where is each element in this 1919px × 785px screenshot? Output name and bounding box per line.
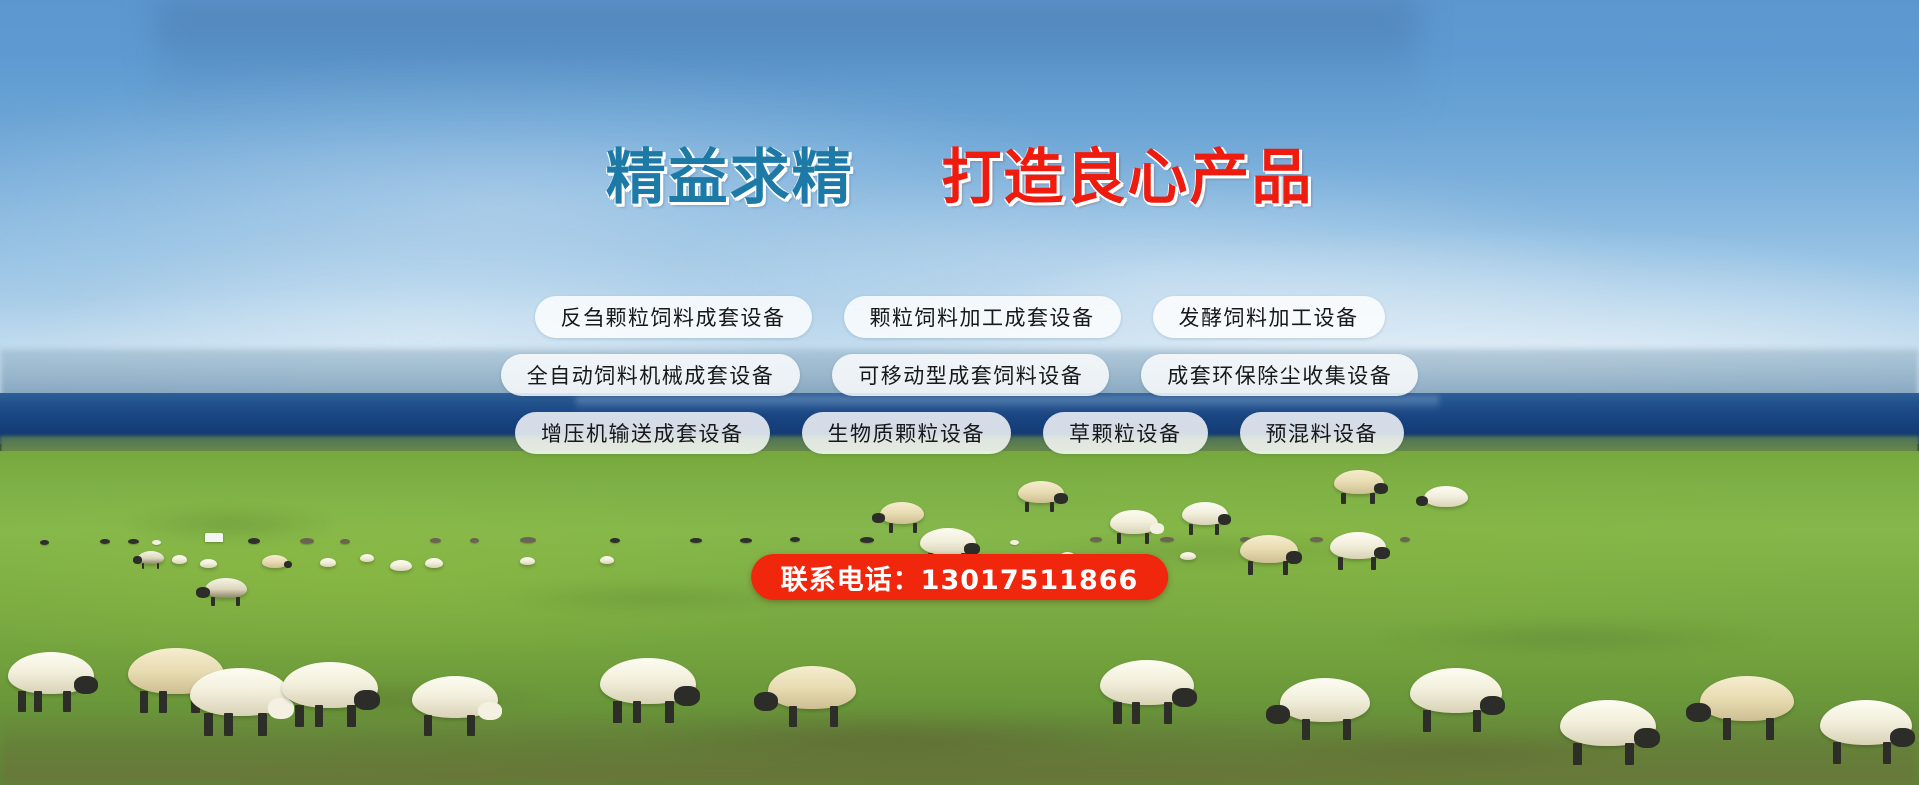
far-animal (248, 538, 260, 544)
sheep (8, 652, 94, 694)
sheep-leg (1625, 743, 1634, 765)
sheep-head (1286, 551, 1302, 564)
sheep-leg (211, 597, 215, 607)
sheep (1100, 660, 1194, 705)
sheep-head (1172, 688, 1197, 707)
far-animal (610, 538, 620, 543)
far-animal (1090, 537, 1102, 542)
sheep (1330, 532, 1386, 559)
far-animal (1010, 540, 1019, 545)
pill-ruminant-pellet-feed-complete-equipment[interactable]: 反刍颗粒饲料成套设备 (535, 296, 812, 338)
sheep-leg (1341, 493, 1346, 505)
sheep-leg (889, 523, 893, 534)
sheep (390, 560, 412, 571)
sheep (1700, 676, 1794, 721)
pill-row-2: 全自动饲料机械成套设备 可移动型成套饲料设备 成套环保除尘收集设备 (0, 354, 1919, 396)
far-animal (1400, 537, 1410, 542)
sheep-leg (1833, 742, 1841, 764)
sheep-head (1890, 728, 1915, 747)
sheep (282, 662, 378, 708)
pill-grass-pellet-equipment[interactable]: 草颗粒设备 (1043, 412, 1208, 454)
sheep (320, 558, 336, 567)
headline-blue-text: 精益求精 (606, 148, 854, 208)
headline-red-text: 打造良心产品 (941, 148, 1313, 208)
sheep-leg (1473, 710, 1481, 732)
far-animal (152, 540, 161, 545)
far-animal (1160, 537, 1174, 542)
sheep-leg (157, 563, 159, 569)
sheep (1820, 700, 1912, 745)
sheep (1180, 552, 1196, 560)
far-animal (1310, 537, 1323, 542)
sheep-leg (633, 701, 642, 723)
sheep-leg (315, 705, 324, 727)
sheep (425, 558, 443, 568)
far-animal (340, 539, 350, 544)
hero-headline: 精益求精 打造良心产品 (0, 148, 1919, 208)
sheep-head (1374, 483, 1388, 494)
sheep-leg (1050, 502, 1054, 513)
sheep (600, 658, 696, 704)
sheep-leg (1573, 743, 1582, 765)
sheep (1560, 700, 1656, 746)
sheep-leg (140, 691, 149, 713)
far-animal (690, 538, 702, 543)
sheep-leg (613, 701, 622, 723)
sheep-leg (1338, 557, 1343, 570)
sheep (412, 676, 498, 718)
sheep-leg (1343, 719, 1351, 740)
sheep-leg (347, 705, 356, 727)
sheep-head (354, 690, 380, 710)
sheep-leg (1132, 702, 1140, 724)
sheep-head (1480, 696, 1505, 715)
sheep-head (754, 692, 778, 711)
sheep-head (1634, 728, 1660, 748)
sheep-leg (913, 523, 917, 534)
sheep (1334, 470, 1384, 494)
far-animal (100, 539, 110, 544)
sheep (205, 578, 247, 598)
sheep-leg (34, 691, 42, 711)
pill-row-1: 反刍颗粒饲料成套设备 颗粒饲料加工成套设备 发酵饲料加工设备 (0, 296, 1919, 338)
sheep-leg (1117, 533, 1121, 545)
sheep-head (1054, 493, 1068, 504)
sheep (138, 551, 164, 564)
sheep (360, 554, 374, 562)
pill-fully-automatic-feed-machinery-complete-equipment[interactable]: 全自动饲料机械成套设备 (501, 354, 801, 396)
pill-mobile-complete-feed-equipment[interactable]: 可移动型成套饲料设备 (832, 354, 1109, 396)
far-animal (470, 538, 479, 543)
sheep (1240, 535, 1298, 563)
pill-biomass-pellet-equipment[interactable]: 生物质颗粒设备 (802, 412, 1012, 454)
sheep-leg (1025, 502, 1029, 513)
sheep-head (1266, 705, 1290, 724)
product-category-pills: 反刍颗粒饲料成套设备 颗粒饲料加工成套设备 发酵饲料加工设备 全自动饲料机械成套… (0, 296, 1919, 470)
sheep-leg (1248, 561, 1253, 574)
sheep-leg (295, 705, 304, 727)
sheep (880, 502, 924, 524)
sheep-leg (1215, 524, 1219, 535)
sheep-leg (467, 715, 475, 735)
far-animal (520, 537, 536, 543)
sheep-leg (1189, 524, 1193, 535)
far-animal (128, 539, 139, 544)
sheep-leg (236, 597, 240, 607)
sheep-leg (1302, 719, 1310, 740)
sheep (1110, 510, 1158, 534)
sheep-leg (204, 713, 213, 736)
far-animal (40, 540, 49, 545)
pill-premix-equipment[interactable]: 预混料设备 (1240, 412, 1405, 454)
sheep (1182, 502, 1228, 525)
pill-fermented-feed-processing-equipment[interactable]: 发酵饲料加工设备 (1153, 296, 1385, 338)
far-animal (300, 538, 314, 544)
sheep-head (196, 587, 210, 598)
sheep-head (268, 698, 294, 719)
sheep (768, 666, 856, 709)
sheep-head (1686, 703, 1711, 722)
sheep (1280, 678, 1370, 722)
tent (205, 533, 223, 542)
pill-row-3: 增压机输送成套设备 生物质颗粒设备 草颗粒设备 预混料设备 (0, 412, 1919, 454)
sheep-leg (1283, 561, 1288, 574)
sheep-leg (1113, 702, 1121, 724)
sheep-leg (1370, 493, 1375, 505)
sheep (920, 528, 976, 555)
sheep (520, 557, 535, 565)
sheep (600, 556, 614, 564)
sheep-leg (224, 713, 233, 736)
sheep (1410, 668, 1502, 713)
sheep-leg (665, 701, 674, 723)
sheep-head (284, 561, 292, 568)
sheep (1424, 486, 1468, 507)
sheep-head (674, 686, 700, 706)
sheep-head (1150, 523, 1164, 534)
far-animal (430, 538, 441, 543)
pill-complete-environmental-dust-collection-equipment[interactable]: 成套环保除尘收集设备 (1141, 354, 1418, 396)
pill-booster-conveying-complete-equipment[interactable]: 增压机输送成套设备 (515, 412, 770, 454)
sheep-leg (159, 691, 168, 713)
sheep-head (478, 702, 502, 720)
sheep-head (872, 513, 885, 523)
sheep (172, 555, 187, 564)
far-animal (790, 537, 800, 542)
sheep-head (1374, 547, 1390, 559)
hero-banner: 精益求精 打造良心产品 反刍颗粒饲料成套设备 颗粒饲料加工成套设备 发酵饲料加工… (0, 0, 1919, 785)
sheep-leg (18, 691, 26, 711)
sheep-leg (424, 715, 432, 735)
contact-phone-banner[interactable]: 联系电话：13017511866 (751, 554, 1169, 600)
sheep-head (133, 556, 142, 564)
sheep-head (1416, 496, 1428, 506)
far-animal (740, 538, 752, 543)
sheep-leg (1423, 710, 1431, 732)
sheep-head (1218, 514, 1231, 525)
sheep-head (74, 676, 98, 694)
sheep-leg (1766, 718, 1774, 740)
sheep-leg (258, 713, 267, 736)
sheep-leg (1371, 557, 1376, 570)
sheep-leg (1164, 702, 1172, 724)
sheep (1018, 481, 1064, 503)
sheep-leg (789, 706, 797, 727)
sheep-leg (1145, 533, 1149, 545)
sheep (262, 555, 288, 568)
sheep-leg (830, 706, 838, 727)
sheep (200, 559, 217, 568)
sheep (190, 668, 290, 716)
far-animal (860, 537, 874, 543)
pill-pellet-feed-processing-complete-equipment[interactable]: 颗粒饲料加工成套设备 (844, 296, 1121, 338)
sheep-leg (63, 691, 71, 711)
sheep-leg (1723, 718, 1731, 740)
sheep-leg (1883, 742, 1891, 764)
